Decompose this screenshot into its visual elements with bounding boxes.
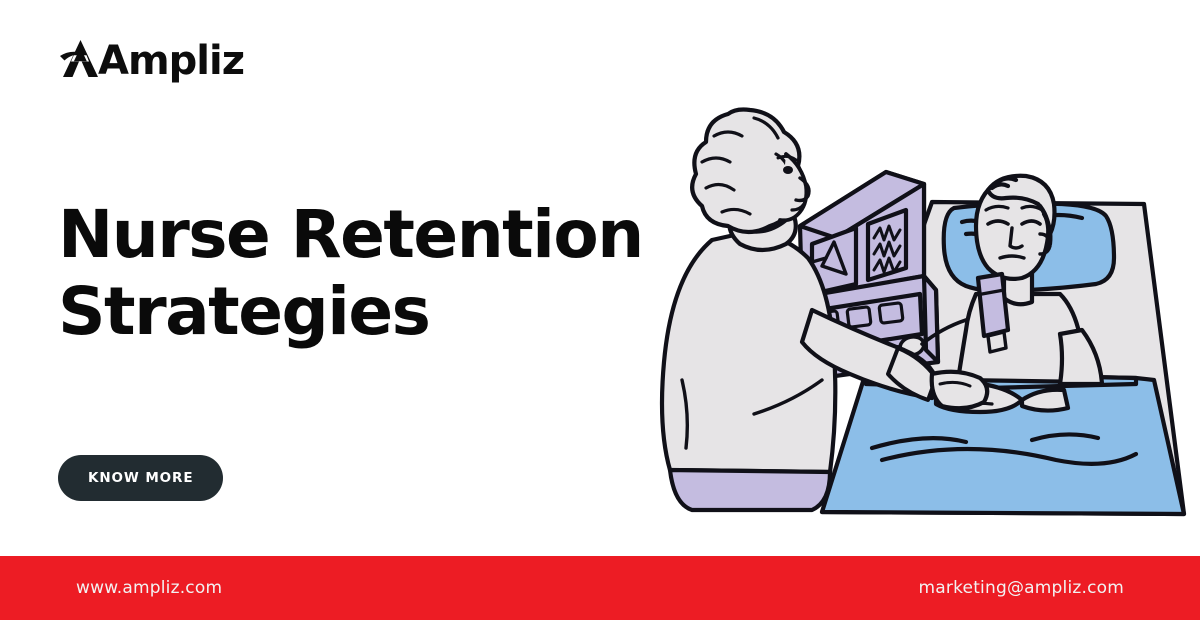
page-title: Nurse Retention Strategies [58, 196, 658, 350]
ecg-waveform-display [868, 210, 906, 280]
marketing-banner: Ampliz Nurse Retention Strategies KNOW M… [0, 0, 1200, 620]
hero-illustration [636, 62, 1192, 520]
footer-bar: www.ampliz.com marketing@ampliz.com [0, 556, 1200, 620]
headline-line-1: Nurse Retention [58, 196, 643, 273]
footer-website[interactable]: www.ampliz.com [76, 578, 222, 598]
footer-email[interactable]: marketing@ampliz.com [919, 578, 1124, 598]
ampliz-logo[interactable]: Ampliz [58, 38, 244, 84]
logo-wordmark: Ampliz [98, 41, 244, 81]
headline-line-2: Strategies [58, 273, 429, 350]
know-more-button[interactable]: KNOW MORE [58, 455, 223, 501]
